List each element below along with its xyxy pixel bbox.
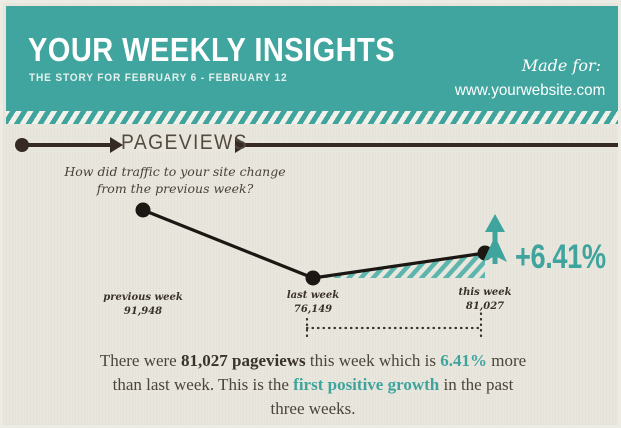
summary-growth-phrase: first positive growth <box>293 375 439 394</box>
summary-paragraph: There were 81,027 pageviews this week wh… <box>98 349 528 421</box>
website-url: www.yourwebsite.com <box>455 82 605 100</box>
page-title: YOUR WEEKLY INSIGHTS <box>28 31 395 69</box>
chart-value-last-week: 76,149 <box>263 304 363 315</box>
chart-label-previous-week: previous week <box>93 292 193 303</box>
section-title: PAGEVIEWS <box>121 131 248 155</box>
chart-label-this-week: this week <box>435 287 535 298</box>
striped-divider <box>6 111 621 124</box>
chart-value-previous-week: 91,948 <box>93 306 193 317</box>
made-for-label: Made for: <box>522 56 601 75</box>
chart-point-last-week <box>306 271 321 286</box>
chart-value-this-week: 81,027 <box>435 301 535 312</box>
summary-pageviews-value: 81,027 pageviews <box>181 351 306 370</box>
summary-text-2: this week which is <box>306 351 441 370</box>
infographic-canvas: YOUR WEEKLY INSIGHTS THE STORY FOR FEBRU… <box>0 0 621 428</box>
header-banner: YOUR WEEKLY INSIGHTS THE STORY FOR FEBRU… <box>6 6 621 111</box>
arrow-up-icon <box>483 214 507 264</box>
chart-label-last-week: last week <box>263 290 363 301</box>
header-subtitle: THE STORY FOR FEBRUARY 6 - FEBRUARY 12 <box>29 72 287 84</box>
summary-percent-value: 6.41% <box>440 351 487 370</box>
bullet-dot-icon <box>15 138 29 152</box>
percent-change-callout: +6.41% <box>515 238 606 277</box>
summary-text-1: There were <box>100 351 181 370</box>
chart-point-previous-week <box>136 203 151 218</box>
